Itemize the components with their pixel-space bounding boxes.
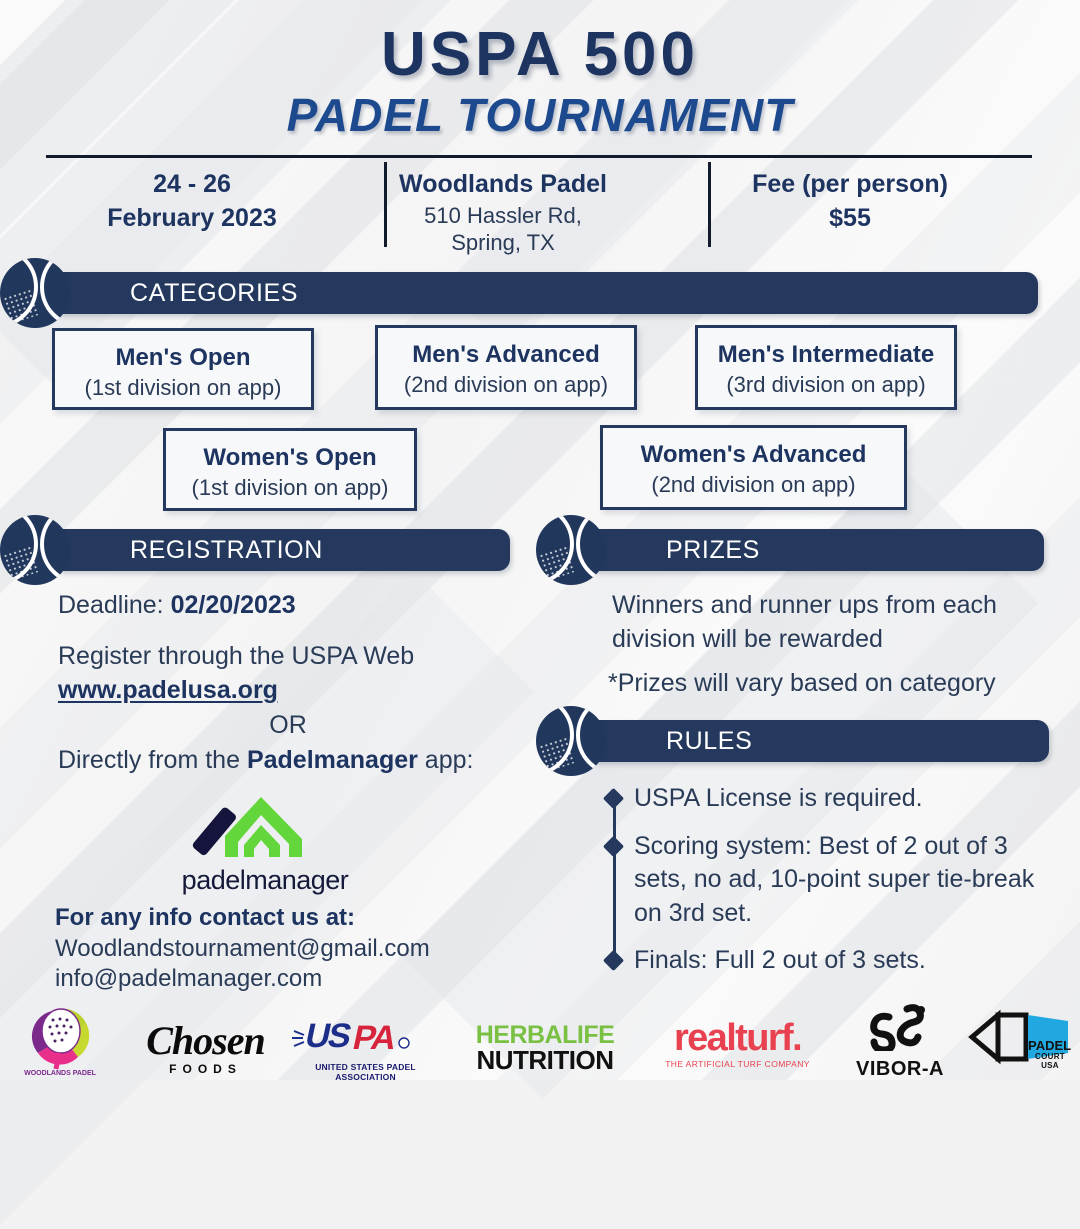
- contact-heading: For any info contact us at:: [55, 902, 355, 934]
- category-card[interactable]: Men's Open (1st division on app): [52, 328, 314, 410]
- category-division: (1st division on app): [55, 373, 311, 403]
- registration-or: OR: [58, 709, 518, 743]
- category-name: Men's Intermediate: [698, 339, 954, 370]
- woodlands-padel-logo-icon: WOODLANDS PADEL: [12, 1003, 108, 1077]
- diamond-bullet-icon: [603, 950, 624, 971]
- contact-email[interactable]: info@padelmanager.com: [55, 963, 322, 995]
- category-card[interactable]: Men's Advanced (2nd division on app): [375, 325, 637, 410]
- registration-link[interactable]: www.padelusa.org: [58, 674, 278, 708]
- venue-name: Woodlands Padel: [338, 168, 668, 202]
- category-name: Women's Advanced: [603, 439, 904, 470]
- category-name: Men's Open: [55, 342, 311, 373]
- fee-value: $55: [668, 202, 1032, 236]
- herbalife-subtitle: NUTRITION: [470, 1045, 620, 1076]
- contact-email[interactable]: Woodlandstournament@gmail.com: [55, 933, 430, 965]
- sponsor-uspa: US PA UNITED STATES PADEL ASSOCIATION: [288, 1017, 443, 1082]
- sponsor-woodlands-padel: WOODLANDS PADEL: [12, 1003, 108, 1082]
- category-division: (2nd division on app): [603, 470, 904, 500]
- padelcourt-wordmark: PADEL: [1028, 1039, 1071, 1052]
- vibora-wordmark: VIBOR-A: [845, 1058, 955, 1081]
- chosen-wordmark: Chosen: [128, 1017, 283, 1064]
- diamond-bullet-icon: [603, 788, 624, 809]
- prizes-line2: division will be rewarded: [612, 623, 1052, 657]
- header: USPA 500 PADEL TOURNAMENT: [0, 22, 1080, 142]
- page-title: USPA 500: [0, 22, 1080, 87]
- app-line-post: app:: [418, 746, 474, 774]
- uspa-logo-icon: US PA: [288, 1017, 443, 1059]
- category-card[interactable]: Women's Advanced (2nd division on app): [600, 425, 907, 510]
- app-name: Padelmanager: [247, 746, 418, 774]
- prizes-note: *Prizes will vary based on category: [608, 667, 1058, 701]
- sponsor-realturf: realturf. THE ARTIFICIAL TURF COMPANY: [655, 1017, 820, 1069]
- page-subtitle: PADEL TOURNAMENT: [0, 89, 1080, 142]
- section-header-registration: REGISTRATION: [58, 529, 510, 571]
- rule-item: USPA License is required.: [604, 782, 1050, 816]
- info-row: 24 - 26 February 2023 Woodlands Padel 51…: [46, 162, 1032, 254]
- deadline-value: 02/20/2023: [171, 591, 296, 619]
- info-dates: 24 - 26 February 2023: [46, 162, 338, 254]
- rules-label: RULES: [666, 727, 752, 756]
- registration-deadline: Deadline: 02/20/2023: [58, 589, 518, 623]
- category-name: Men's Advanced: [378, 339, 634, 370]
- category-division: (2nd division on app): [378, 370, 634, 400]
- category-card[interactable]: Men's Intermediate (3rd division on app): [695, 325, 957, 410]
- category-division: (1st division on app): [166, 473, 414, 503]
- prizes-line1: Winners and runner ups from each: [612, 589, 1052, 623]
- rule-text: USPA License is required.: [634, 784, 923, 812]
- dates-line1: 24 - 26: [46, 168, 338, 202]
- sponsor-footer: WOODLANDS PADEL Chosen FOODS US PA UNITE…: [0, 995, 1080, 1080]
- padelmanager-wordmark: padelmanager: [170, 865, 360, 896]
- info-venue: Woodlands Padel 510 Hassler Rd, Spring, …: [338, 162, 668, 254]
- vibora-snake-icon: [845, 1003, 955, 1051]
- section-header-prizes: PRIZES: [594, 529, 1044, 571]
- header-divider: [46, 155, 1032, 158]
- padelmanager-logo: padelmanager: [170, 793, 360, 893]
- svg-text:WOODLANDS PADEL: WOODLANDS PADEL: [24, 1070, 97, 1077]
- registration-app-line: Directly from the Padelmanager app:: [58, 744, 538, 778]
- realturf-wordmark: realturf.: [655, 1017, 820, 1060]
- categories-label: CATEGORIES: [130, 279, 298, 308]
- rule-item: Finals: Full 2 out of 3 sets.: [604, 944, 1050, 978]
- tennis-ball-icon: [0, 515, 70, 585]
- tennis-ball-icon: [536, 515, 606, 585]
- category-division: (3rd division on app): [698, 370, 954, 400]
- sponsor-vibora: VIBOR-A: [845, 1003, 955, 1081]
- padelmanager-mark-icon: [170, 793, 360, 865]
- tennis-ball-icon: [536, 706, 606, 776]
- venue-city: Spring, TX: [338, 229, 668, 257]
- rule-text: Finals: Full 2 out of 3 sets.: [634, 946, 926, 974]
- fee-label: Fee (per person): [668, 168, 1032, 202]
- section-header-rules: RULES: [594, 720, 1049, 762]
- svg-text:PA: PA: [350, 1019, 400, 1057]
- prizes-label: PRIZES: [666, 536, 760, 565]
- registration-label: REGISTRATION: [130, 536, 323, 565]
- flyer-canvas: USPA 500 PADEL TOURNAMENT 24 - 26 Februa…: [0, 0, 1080, 1080]
- sponsor-padel-court-usa: PADEL COURT USA: [968, 1007, 1072, 1072]
- diamond-bullet-icon: [603, 835, 624, 856]
- padelcourt-subtitle: COURT USA: [1028, 1052, 1072, 1070]
- deadline-label: Deadline:: [58, 591, 164, 619]
- sponsor-chosen-foods: Chosen FOODS: [128, 1017, 283, 1076]
- rule-text: Scoring system: Best of 2 out of 3 sets,…: [634, 832, 1034, 927]
- realturf-subtitle: THE ARTIFICIAL TURF COMPANY: [655, 1059, 820, 1069]
- category-name: Women's Open: [166, 442, 414, 473]
- sponsor-herbalife: HERBALIFE NUTRITION: [470, 1021, 620, 1076]
- chosen-subtitle: FOODS: [128, 1062, 283, 1076]
- dates-line2: February 2023: [46, 202, 338, 236]
- uspa-subtitle: UNITED STATES PADEL ASSOCIATION: [288, 1062, 443, 1082]
- category-card[interactable]: Women's Open (1st division on app): [163, 428, 417, 511]
- rules-list: USPA License is required. Scoring system…: [604, 782, 1050, 992]
- rule-item: Scoring system: Best of 2 out of 3 sets,…: [604, 830, 1050, 931]
- info-fee: Fee (per person) $55: [668, 162, 1032, 254]
- venue-street: 510 Hassler Rd,: [338, 202, 668, 230]
- registration-web-line: Register through the USPA Web: [58, 640, 528, 674]
- app-line-pre: Directly from the: [58, 746, 247, 774]
- tennis-ball-icon: [0, 258, 70, 328]
- section-header-categories: CATEGORIES: [58, 272, 1038, 314]
- svg-text:US: US: [302, 1017, 354, 1055]
